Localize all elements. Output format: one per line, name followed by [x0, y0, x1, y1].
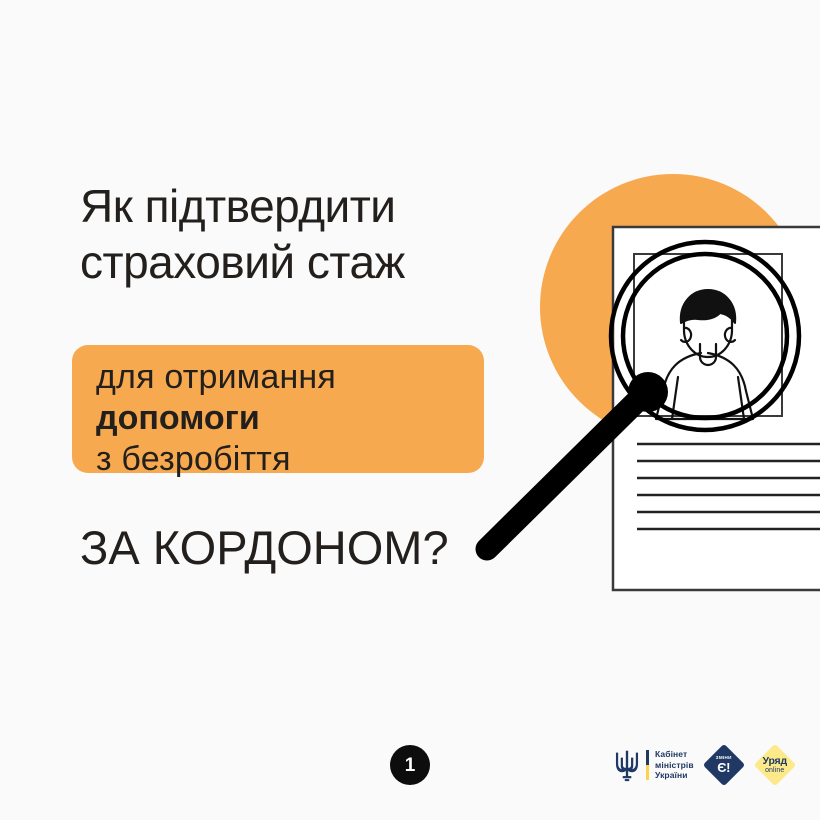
magnifier-rim-inner [623, 254, 787, 418]
page-number-badge: 1 [390, 745, 430, 785]
ukraine-trident-icon [614, 748, 640, 782]
document-text-lines [637, 444, 820, 529]
flag-divider [646, 750, 649, 780]
cabinet-of-ministers-label: Кабінет міністрів України [655, 749, 694, 780]
uryad-main-label: Уряд [763, 756, 787, 767]
zminy-main-label: Є! [717, 761, 730, 774]
logo-uryad-online: Уряд online [754, 744, 796, 786]
page-title: Як підтвердити страховий стаж [80, 178, 510, 290]
infographic-slide: Як підтвердити страховий стаж для отрима… [0, 0, 820, 820]
zminy-label-group: ЗМІНИ Є! [703, 744, 745, 786]
badge-line-2-emphasis: допомоги [96, 398, 460, 439]
magnifier-rim-outer [611, 242, 799, 430]
badge-line-1: для отримання [96, 357, 460, 398]
logo-cabinet-of-ministers: Кабінет міністрів України [614, 745, 694, 785]
orange-circle [540, 174, 806, 440]
uryad-label-group: Уряд online [754, 744, 796, 786]
photo-frame [634, 254, 782, 416]
badge-line-3: з безробіття [96, 439, 460, 480]
uryad-sub-label: online [765, 767, 784, 774]
magnifier-collar [628, 372, 668, 412]
highlight-badge: для отримання допомоги з безробіття [72, 345, 484, 473]
magnifier-handle [487, 398, 640, 549]
magnifier-lens-glass [617, 248, 793, 424]
person-avatar [656, 290, 753, 419]
logo-zminy-ye: ЗМІНИ Є! [703, 744, 745, 786]
question-heading: ЗА КОРДОНОМ? [80, 522, 449, 574]
document-sheet [613, 227, 820, 590]
logo-group: Кабінет міністрів України ЗМІНИ Є! Уряд … [614, 743, 796, 787]
